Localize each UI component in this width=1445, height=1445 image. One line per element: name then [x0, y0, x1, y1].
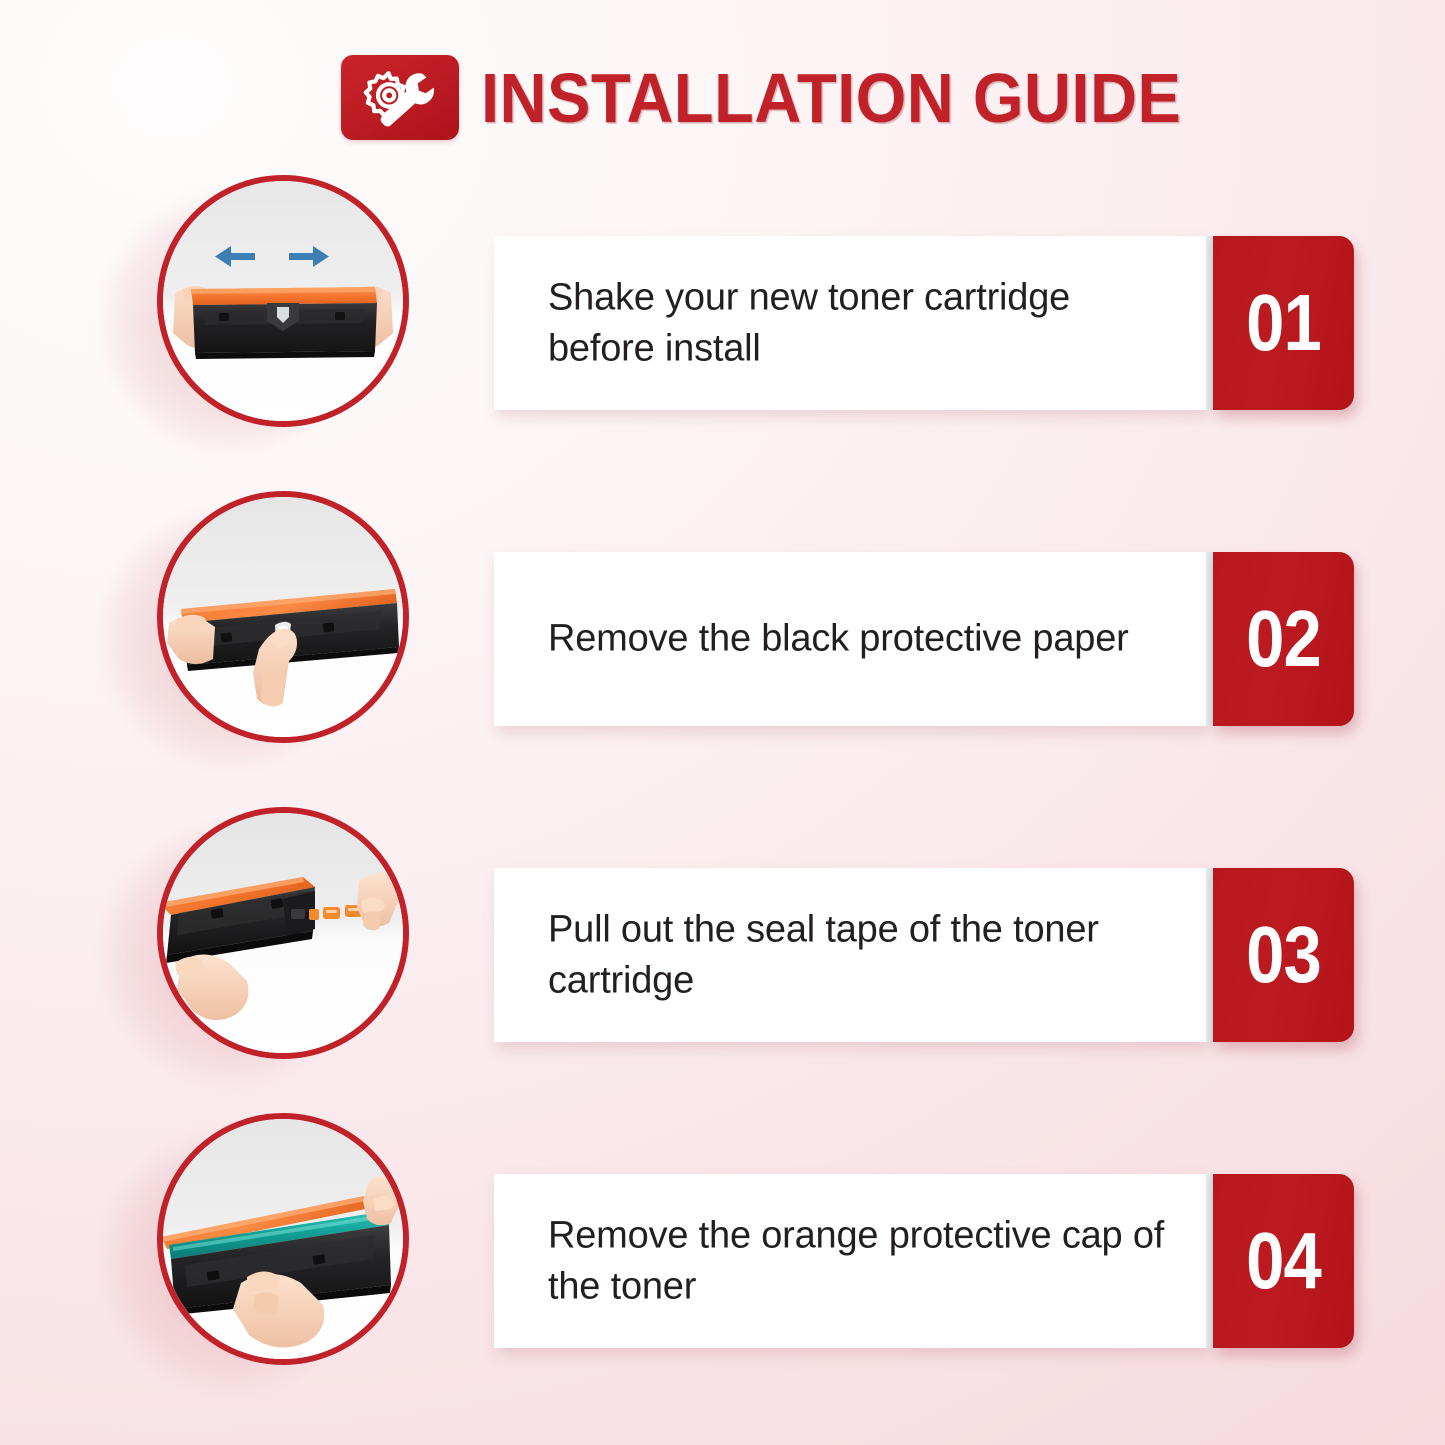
step-text: Shake your new toner cartridge before in…	[548, 272, 1180, 373]
remove-black-paper-photo	[157, 491, 409, 743]
step-text: Remove the black protective paper	[548, 614, 1180, 665]
gear-wrench-icon	[341, 55, 459, 140]
step-number: 01	[1246, 283, 1321, 363]
step-card: Pull out the seal tape of the toner cart…	[494, 868, 1206, 1042]
remove-orange-cap-photo	[157, 1113, 409, 1365]
page-title: INSTALLATION GUIDE	[481, 63, 1181, 133]
photo-ring	[157, 807, 409, 1059]
photo-ring	[157, 491, 409, 743]
step-row: Pull out the seal tape of the toner cart…	[0, 792, 1445, 1108]
step-number: 03	[1246, 915, 1321, 995]
toner-shake-photo	[157, 175, 409, 427]
step-text: Remove the orange protective cap of the …	[548, 1210, 1180, 1311]
photo-ring	[157, 1113, 409, 1365]
step-number-badge: 04	[1213, 1174, 1354, 1348]
step-row: Shake your new toner cartridge before in…	[0, 160, 1445, 476]
card-seam	[1206, 236, 1213, 410]
page-header: INSTALLATION GUIDE	[341, 55, 1234, 140]
card-seam	[1206, 868, 1213, 1042]
step-text: Pull out the seal tape of the toner cart…	[548, 904, 1180, 1005]
step-row: Remove the black protective paper 02	[0, 476, 1445, 792]
step-card: Remove the orange protective cap of the …	[494, 1174, 1206, 1348]
card-seam	[1206, 1174, 1213, 1348]
card-seam	[1206, 552, 1213, 726]
step-number-badge: 02	[1213, 552, 1354, 726]
step-number: 04	[1246, 1221, 1321, 1301]
step-card: Remove the black protective paper	[494, 552, 1206, 726]
pull-seal-tape-photo	[157, 807, 409, 1059]
installation-guide-page: INSTALLATION GUIDE	[0, 0, 1445, 1445]
photo-ring	[157, 175, 409, 427]
step-number-badge: 01	[1213, 236, 1354, 410]
step-number: 02	[1246, 599, 1321, 679]
step-row: Remove the orange protective cap of the …	[0, 1098, 1445, 1414]
step-card: Shake your new toner cartridge before in…	[494, 236, 1206, 410]
step-number-badge: 03	[1213, 868, 1354, 1042]
